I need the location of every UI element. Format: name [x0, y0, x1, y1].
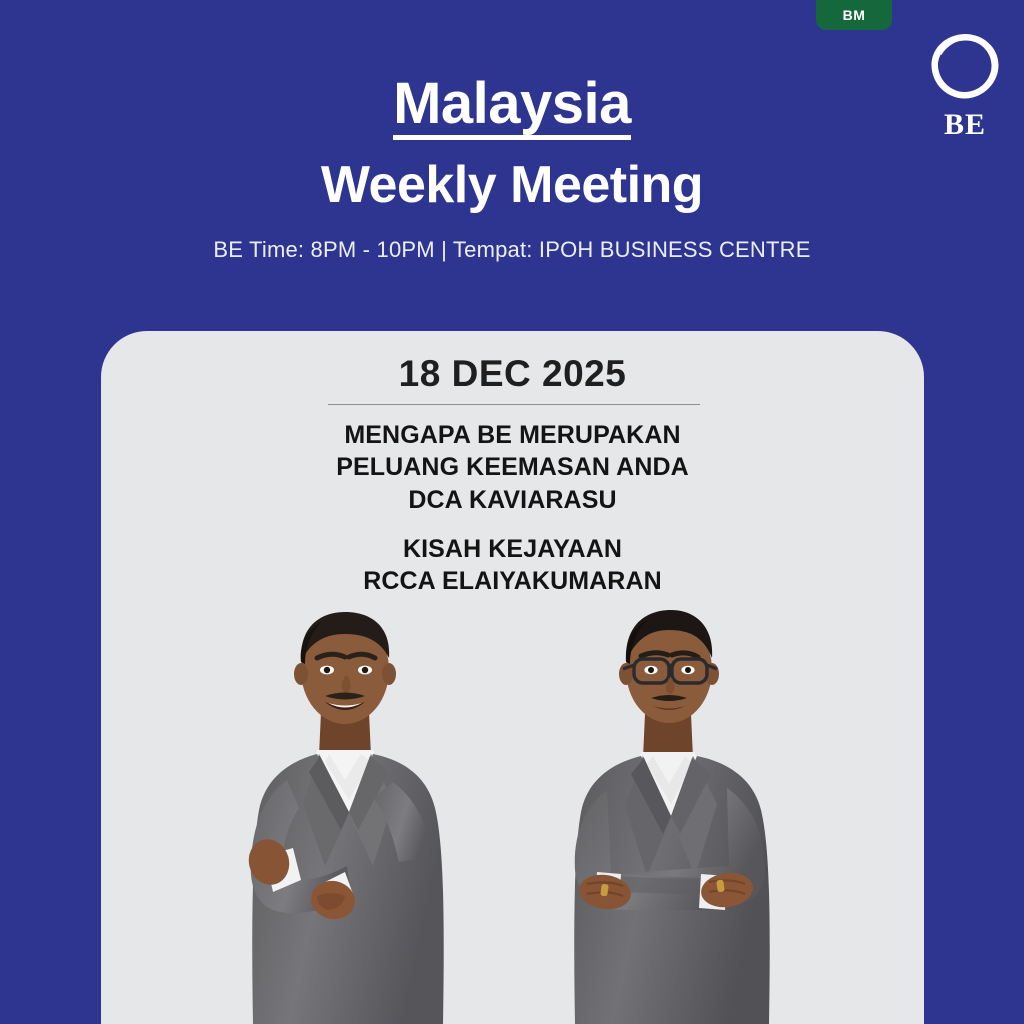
language-badge-bm[interactable]: BM: [816, 0, 892, 30]
poster-header: Malaysia Weekly Meeting BE Time: 8PM - 1…: [0, 74, 1024, 263]
agenda-group-primary: MENGAPA BE MERUPAKAN PELUANG KEEMASAN AN…: [101, 419, 924, 516]
speaker-photo-group: [101, 604, 924, 1024]
event-meta: BE Time: 8PM - 10PM | Tempat: IPOH BUSIN…: [0, 237, 1024, 263]
event-date: 18 DEC 2025: [101, 353, 924, 395]
content-card: 18 DEC 2025 MENGAPA BE MERUPAKAN PELUANG…: [101, 331, 924, 1024]
agenda-line: KISAH KEJAYAAN: [101, 533, 924, 565]
agenda-speaker-name: RCCA ELAIYAKUMARAN: [101, 565, 924, 597]
page-subtitle: Weekly Meeting: [0, 158, 1024, 213]
speaker-photo-elaiyakumaran: [541, 604, 801, 1024]
divider: [328, 404, 700, 405]
agenda-line: PELUANG KEEMASAN ANDA: [101, 451, 924, 483]
agenda-line: MENGAPA BE MERUPAKAN: [101, 419, 924, 451]
poster-canvas: BM BE Malaysia Weekly Meeting BE Time: 8…: [0, 0, 1024, 1024]
agenda-group-secondary: KISAH KEJAYAAN RCCA ELAIYAKUMARAN: [101, 533, 924, 598]
person-portrait-icon: [541, 604, 801, 1024]
agenda-speaker-name: DCA KAVIARASU: [101, 484, 924, 516]
language-badge-label: BM: [843, 7, 866, 23]
page-title: Malaysia: [393, 74, 631, 140]
person-portrait-icon: [221, 604, 481, 1024]
speaker-photo-kaviarasu: [221, 604, 481, 1024]
